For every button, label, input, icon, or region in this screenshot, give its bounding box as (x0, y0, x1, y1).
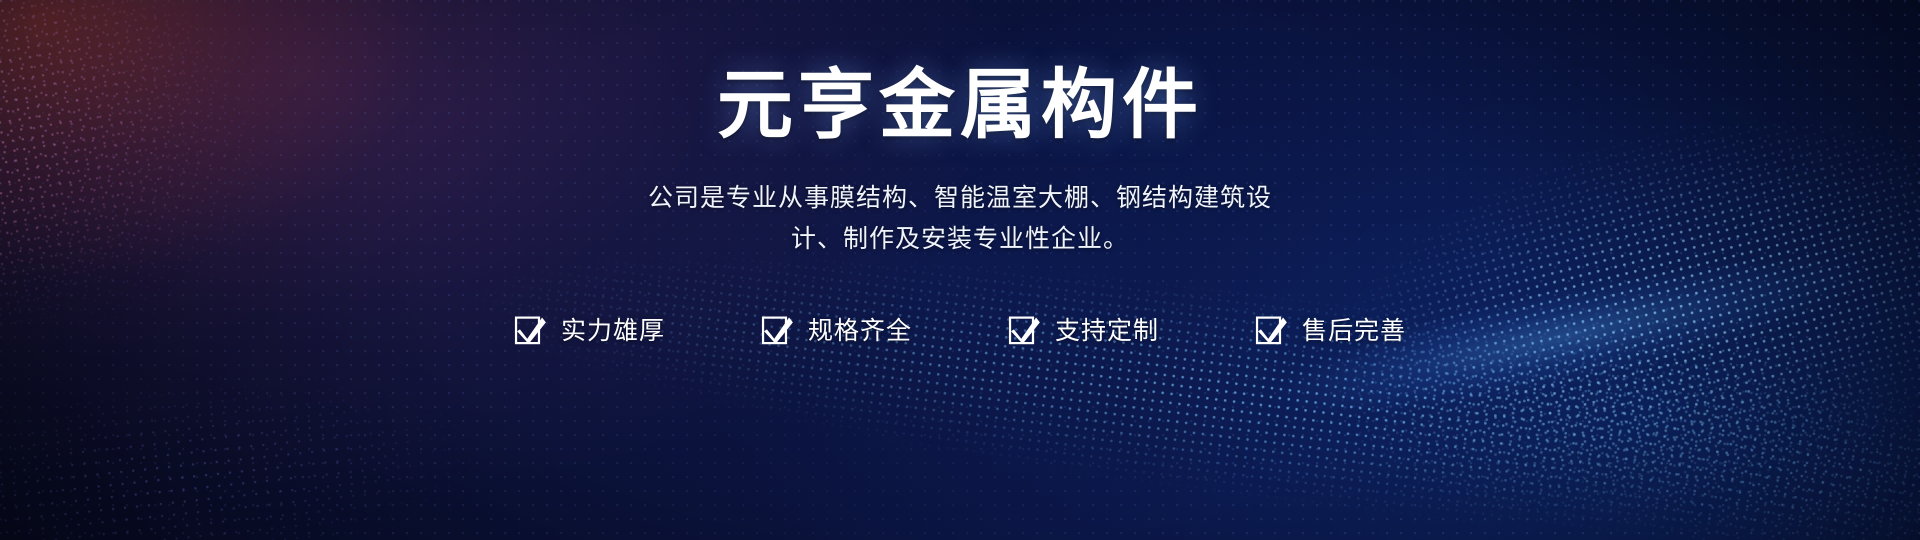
feature-list: 实力雄厚 规格齐全 支持定制 (514, 311, 1406, 347)
subtitle-line-1: 公司是专业从事膜结构、智能温室大棚、钢结构建筑设 (648, 178, 1272, 219)
feature-item-strength: 实力雄厚 (514, 311, 665, 347)
feature-label: 规格齐全 (808, 311, 912, 347)
feature-item-specs: 规格齐全 (761, 311, 912, 347)
checkbox-checked-icon (1008, 312, 1042, 346)
feature-label: 实力雄厚 (561, 311, 665, 347)
feature-label: 售后完善 (1302, 311, 1406, 347)
subtitle-line-2: 计、制作及安装专业性企业。 (648, 219, 1272, 260)
feature-item-customization: 支持定制 (1008, 311, 1159, 347)
checkbox-checked-icon (514, 312, 548, 346)
feature-item-after-sales: 售后完善 (1255, 311, 1406, 347)
page-title: 元亨金属构件 (717, 68, 1203, 144)
checkbox-checked-icon (1255, 312, 1289, 346)
hero-banner: 元亨金属构件 公司是专业从事膜结构、智能温室大棚、钢结构建筑设 计、制作及安装专… (0, 0, 1920, 540)
banner-subtitle: 公司是专业从事膜结构、智能温室大棚、钢结构建筑设 计、制作及安装专业性企业。 (648, 178, 1272, 259)
checkbox-checked-icon (761, 312, 795, 346)
banner-content: 元亨金属构件 公司是专业从事膜结构、智能温室大棚、钢结构建筑设 计、制作及安装专… (0, 0, 1920, 540)
feature-label: 支持定制 (1055, 311, 1159, 347)
